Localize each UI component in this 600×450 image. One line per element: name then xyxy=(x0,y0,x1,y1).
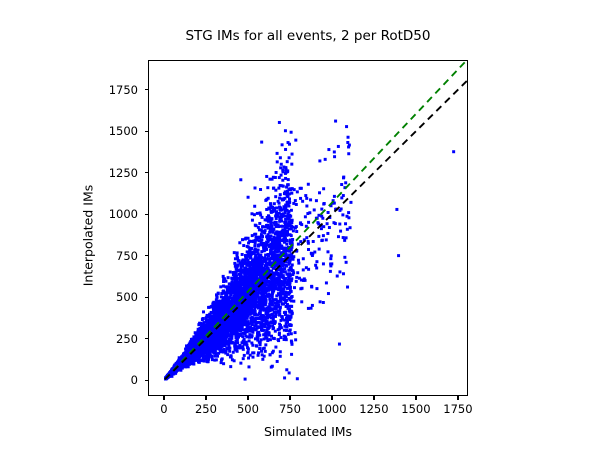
scatter-point xyxy=(264,218,267,221)
scatter-point xyxy=(285,368,288,371)
scatter-point xyxy=(251,356,254,359)
scatter-point xyxy=(207,306,210,309)
scatter-point xyxy=(277,187,280,190)
scatter-point xyxy=(285,299,288,302)
scatter-point xyxy=(285,329,288,332)
scatter-point xyxy=(290,332,293,335)
scatter-point xyxy=(213,355,216,358)
scatter-point xyxy=(284,148,287,151)
page-title: STG IMs for all events, 2 per RotD50 xyxy=(148,28,468,44)
scatter-point xyxy=(279,355,282,358)
scatter-point xyxy=(279,336,282,339)
scatter-plot-axes xyxy=(148,60,468,396)
scatter-point xyxy=(277,339,280,342)
scatter-point xyxy=(264,343,267,346)
scatter-point xyxy=(284,177,287,180)
matplotlib-figure: STG IMs for all events, 2 per RotD50 025… xyxy=(0,0,600,450)
scatter-point xyxy=(232,351,235,354)
scatter-point xyxy=(250,240,253,243)
scatter-point xyxy=(263,329,266,332)
scatter-point xyxy=(247,357,250,360)
scatter-point xyxy=(202,310,205,313)
scatter-point xyxy=(217,352,220,355)
scatter-point xyxy=(290,353,293,356)
scatter-point xyxy=(247,365,250,368)
scatter-point xyxy=(285,254,288,257)
scatter-point xyxy=(246,245,249,248)
scatter-point xyxy=(260,141,263,144)
scatter-point xyxy=(287,183,290,186)
scatter-point xyxy=(290,131,293,134)
scatter-point xyxy=(276,160,279,163)
scatter-point xyxy=(281,143,284,146)
scatter-point xyxy=(259,311,262,314)
scatter-point xyxy=(247,242,250,245)
scatter-point xyxy=(250,317,253,320)
scatter-point xyxy=(253,244,256,247)
scatter-point xyxy=(252,351,255,354)
scatter-point xyxy=(266,186,269,189)
scatter-point xyxy=(281,179,284,182)
scatter-point xyxy=(206,314,209,317)
scatter-point xyxy=(256,212,259,215)
scatter-point xyxy=(286,160,289,163)
scatter-point xyxy=(273,202,276,205)
scatter-point xyxy=(226,353,229,356)
scatter-point xyxy=(231,341,234,344)
scatter-point xyxy=(263,347,266,350)
scatter-point xyxy=(250,342,253,345)
scatter-point xyxy=(233,359,236,362)
scatter-plot-canvas xyxy=(149,61,467,395)
scatter-point xyxy=(283,376,286,379)
scatter-point xyxy=(279,350,282,353)
scatter-point xyxy=(254,233,257,236)
scatter-point xyxy=(270,335,273,338)
scatter-point xyxy=(259,188,262,191)
scatter-point xyxy=(288,156,291,159)
scatter-point xyxy=(248,339,251,342)
scatter-point xyxy=(291,219,294,222)
scatter-point xyxy=(274,195,277,198)
scatter-point xyxy=(246,352,249,355)
scatter-point xyxy=(291,153,294,156)
